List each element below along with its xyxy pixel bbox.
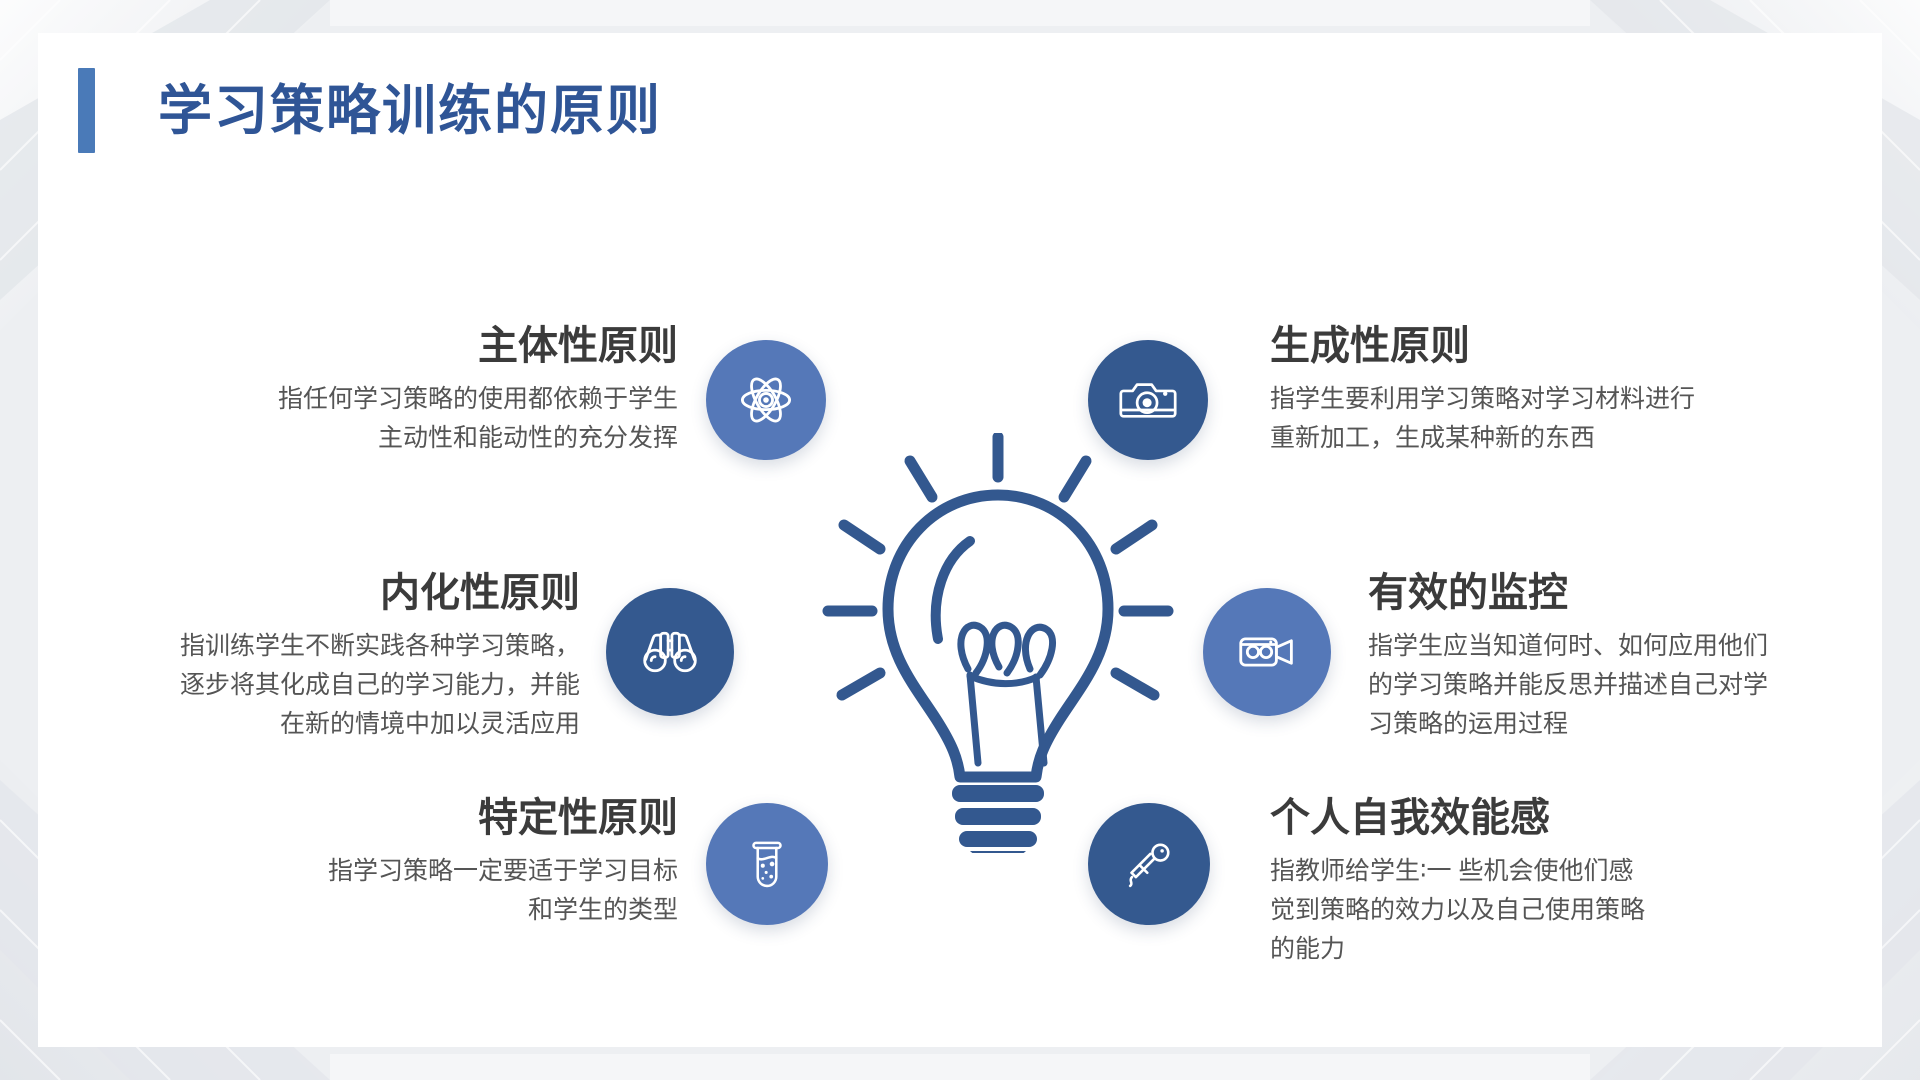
icon-circle-self-efficacy[interactable] bbox=[1088, 803, 1210, 925]
slide-root: 学习策略训练的原则 bbox=[0, 0, 1920, 1080]
lightbulb-icon bbox=[818, 433, 1178, 853]
atom-icon bbox=[738, 372, 794, 428]
principle-body: 指教师给学生∶一 些机会使他们感 觉到策略的效力以及自己使用策略 的能力 bbox=[1270, 852, 1790, 968]
icon-circle-effective-monitoring[interactable] bbox=[1203, 588, 1331, 716]
microphone-icon bbox=[1121, 836, 1177, 892]
principle-body: 指任何学习策略的使用都依赖于学生 主动性和能动性的充分发挥 bbox=[148, 380, 678, 458]
principle-body: 指学习策略一定要适于学习目标 和学生的类型 bbox=[198, 852, 678, 930]
camera-icon bbox=[1119, 371, 1177, 429]
principle-heading: 有效的监控 bbox=[1368, 570, 1888, 617]
title-accent-bar bbox=[78, 68, 95, 153]
principle-body: 指学生要利用学习策略对学习材料进行 重新加工，生成某种新的东西 bbox=[1270, 380, 1830, 458]
principle-generativity: 生成性原则 指学生要利用学习策略对学习材料进行 重新加工，生成某种新的东西 bbox=[1270, 323, 1830, 458]
page-title: 学习策略训练的原则 bbox=[158, 84, 662, 138]
principle-effective-monitoring: 有效的监控 指学生应当知道何时、如何应用他们 的学习策略并能反思并描述自己对学 … bbox=[1368, 570, 1888, 743]
principle-body: 指训练学生不断实践各种学习策略， 逐步将其化成自己的学习能力，并能 在新的情境中… bbox=[88, 627, 580, 743]
icon-circle-internalization[interactable] bbox=[606, 588, 734, 716]
principle-internalization: 内化性原则 指训练学生不断实践各种学习策略， 逐步将其化成自己的学习能力，并能 … bbox=[88, 570, 580, 743]
icon-circle-specificity[interactable] bbox=[706, 803, 828, 925]
video-camera-icon bbox=[1237, 622, 1297, 682]
principle-self-efficacy: 个人自我效能感 指教师给学生∶一 些机会使他们感 觉到策略的效力以及自己使用策略… bbox=[1270, 795, 1790, 968]
slide-title-group: 学习策略训练的原则 bbox=[78, 68, 662, 153]
principle-subjectivity: 主体性原则 指任何学习策略的使用都依赖于学生 主动性和能动性的充分发挥 bbox=[148, 323, 678, 458]
icon-circle-subjectivity[interactable] bbox=[706, 340, 826, 460]
principle-heading: 内化性原则 bbox=[88, 570, 580, 617]
binoculars-icon bbox=[640, 622, 700, 682]
principle-body: 指学生应当知道何时、如何应用他们 的学习策略并能反思并描述自己对学 习策略的运用… bbox=[1368, 627, 1888, 743]
principle-specificity: 特定性原则 指学习策略一定要适于学习目标 和学生的类型 bbox=[198, 795, 678, 930]
principle-heading: 特定性原则 bbox=[198, 795, 678, 842]
icon-circle-generativity[interactable] bbox=[1088, 340, 1208, 460]
content-card: 学习策略训练的原则 bbox=[38, 33, 1882, 1047]
principle-heading: 生成性原则 bbox=[1270, 323, 1830, 370]
principle-heading: 主体性原则 bbox=[148, 323, 678, 370]
test-tube-icon bbox=[740, 837, 794, 891]
principle-heading: 个人自我效能感 bbox=[1270, 795, 1790, 842]
